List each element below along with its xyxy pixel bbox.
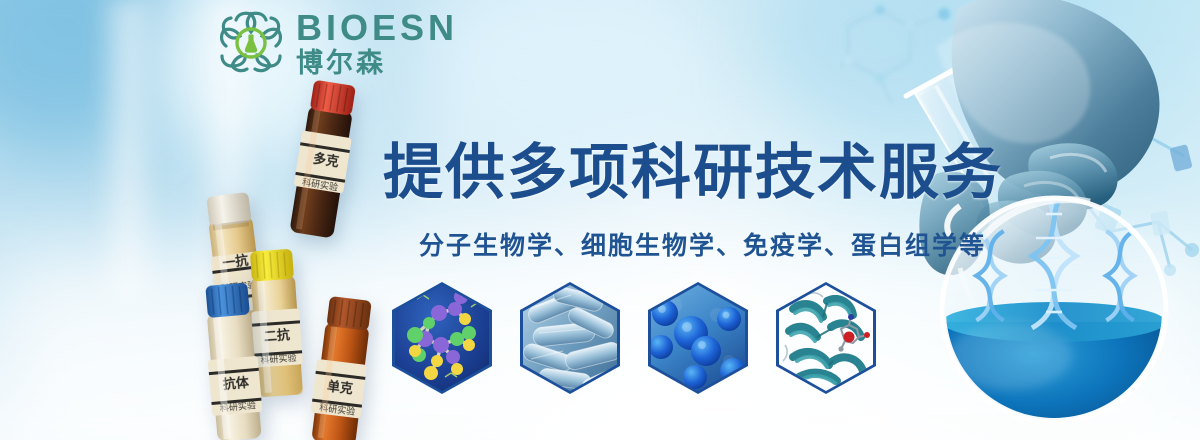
svg-text:抗体: 抗体 (222, 375, 250, 393)
brand-logo[interactable]: BIOESN 博尔森 (216, 8, 458, 78)
banner: 一抗 科研实验 (0, 0, 1200, 440)
molecular-structure-hex-icon[interactable] (392, 282, 492, 394)
flask-liquid (940, 322, 1172, 440)
bacteria-microscopy-hex-icon[interactable] (520, 282, 620, 394)
molecule-network-icon (840, 5, 950, 104)
background-blob (760, 0, 1000, 140)
flask-in-circle-logo-icon (216, 8, 286, 78)
background-glass-column (96, 0, 160, 300)
round-bottom-flask-icon (940, 184, 1172, 440)
immune-cells-hex-icon[interactable] (648, 282, 748, 394)
logo-wordmark: BIOESN (296, 10, 458, 46)
headline-subtitle: 分子生物学、细胞生物学、免疫学、蛋白组学等 (419, 226, 986, 262)
molecule-network-icon (1036, 92, 1199, 276)
vial-monoclonal: 单克 科研实验 (303, 293, 381, 440)
tubing-icon (960, 268, 1046, 352)
service-hexagon-row (392, 282, 876, 394)
laboratory-artwork (840, 0, 1200, 440)
vial-polyclonal: 多克 科研实验 (280, 76, 366, 244)
logo-chinese-name: 博尔森 (296, 50, 458, 77)
headline-title: 提供多项科研技术服务 (383, 124, 1003, 211)
protein-structure-hex-icon[interactable] (776, 282, 876, 394)
